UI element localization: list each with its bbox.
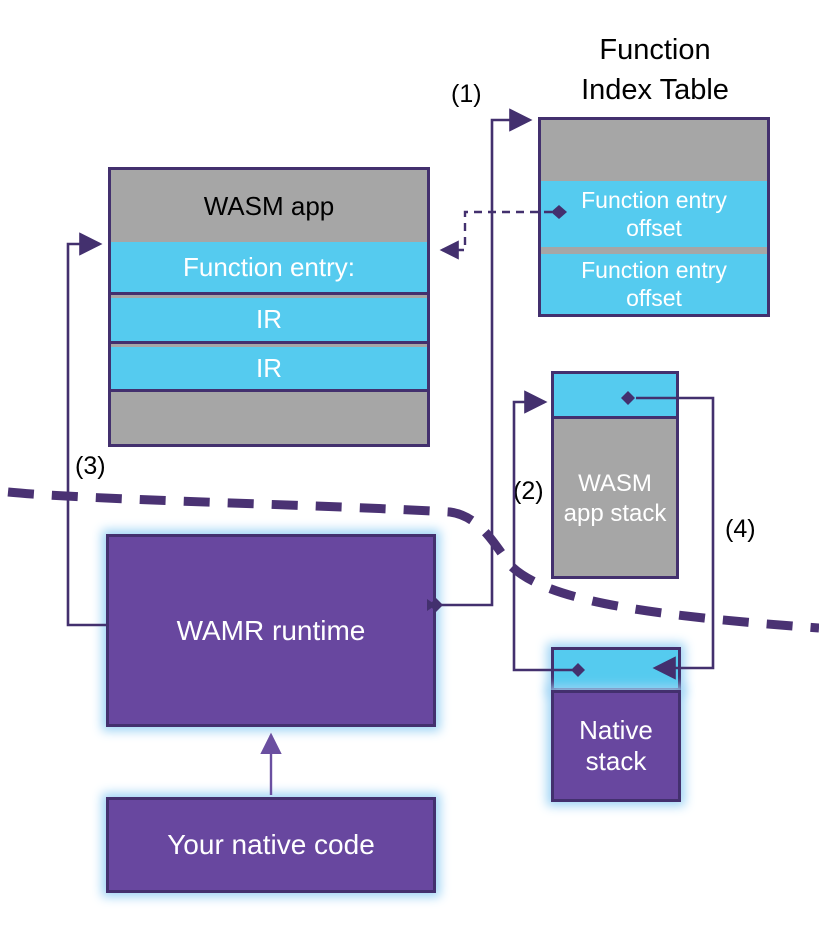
connector-3-runtime-to-wasm-app: [68, 244, 106, 625]
connector-4-wasm-app-stack-to-native-stack: [621, 391, 713, 668]
diamond-wasm-app-stack: [621, 391, 635, 405]
boundary-dashed-line: [8, 492, 819, 628]
connector-layer: [0, 0, 819, 925]
connector-dashed-offset-to-function-entry: [442, 205, 567, 250]
diamond-index-table-entry: [551, 205, 567, 219]
connector-2-native-stack-to-wasm-app-stack: [514, 402, 585, 677]
diamond-native-stack: [571, 663, 585, 677]
diagram-canvas: Function Index Table (1) (2) (3) (4) Fun…: [0, 0, 819, 925]
diamond-runtime-right: [429, 598, 443, 612]
